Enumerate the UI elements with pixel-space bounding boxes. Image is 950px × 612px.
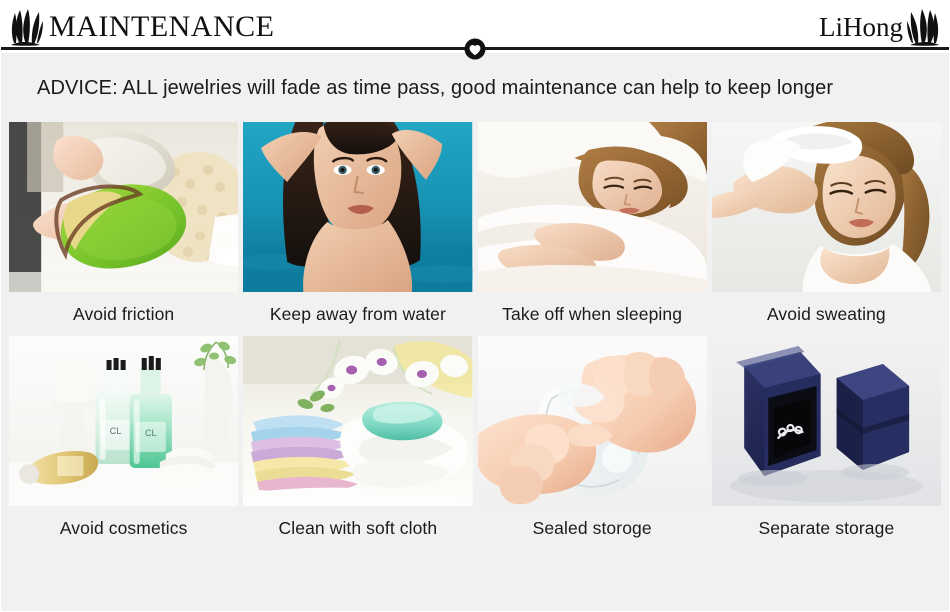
woman-wiping-sweat-with-towel-photo: [712, 122, 941, 292]
tip-caption: Clean with soft cloth: [243, 506, 472, 550]
pastel-towels-with-soap-and-orchid-photo: [243, 336, 472, 506]
maintenance-infographic: MAINTENANCE LiHong: [0, 0, 950, 612]
header-right-brand: LiHong: [819, 7, 941, 47]
tip-card[interactable]: Avoid sweating: [712, 122, 941, 336]
tip-card[interactable]: Sealed storoge: [478, 336, 707, 550]
header-left-brand: MAINTENANCE: [9, 7, 274, 47]
tip-caption: Avoid friction: [9, 292, 238, 336]
woman-with-wet-hair-in-pool-photo: [243, 122, 472, 292]
page-title: MAINTENANCE: [49, 12, 274, 42]
hands-with-green-cleaning-mitt-and-bowl-photo: [9, 122, 238, 292]
svg-text:CL: CL: [145, 428, 157, 438]
tip-card[interactable]: CL CL: [9, 336, 238, 550]
woman-sleeping-on-white-pillow-photo: [478, 122, 707, 292]
page-header: MAINTENANCE LiHong: [1, 1, 949, 53]
cosmetic-bottles-on-vanity-photo: CL CL: [9, 336, 238, 506]
tips-row: CL CL: [9, 336, 941, 550]
hands-sealing-clear-zip-bag-photo: [478, 336, 707, 506]
tip-caption: Take off when sleeping: [478, 292, 707, 336]
tip-card[interactable]: Keep away from water: [243, 122, 472, 336]
svg-text:CL: CL: [110, 426, 122, 436]
tip-caption: Avoid cosmetics: [9, 506, 238, 550]
tip-caption: Sealed storoge: [478, 506, 707, 550]
brand-name: LiHong: [819, 14, 903, 41]
tips-row: Avoid friction: [9, 122, 941, 336]
navy-velvet-ring-boxes-photo: [712, 336, 941, 506]
flame-leaf-ornament-icon: [907, 7, 941, 47]
tip-caption: Avoid sweating: [712, 292, 941, 336]
tip-card[interactable]: Clean with soft cloth: [243, 336, 472, 550]
tips-grid: Avoid friction: [1, 110, 949, 556]
tip-card[interactable]: Separate storage: [712, 336, 941, 550]
tip-caption: Keep away from water: [243, 292, 472, 336]
heart-medallion-icon: [464, 37, 486, 61]
tip-card[interactable]: Take off when sleeping: [478, 122, 707, 336]
tip-caption: Separate storage: [712, 506, 941, 550]
tip-card[interactable]: Avoid friction: [9, 122, 238, 336]
flame-leaf-ornament-icon: [9, 7, 43, 47]
advice-text: ADVICE: ALL jewelries will fade as time …: [1, 53, 949, 110]
